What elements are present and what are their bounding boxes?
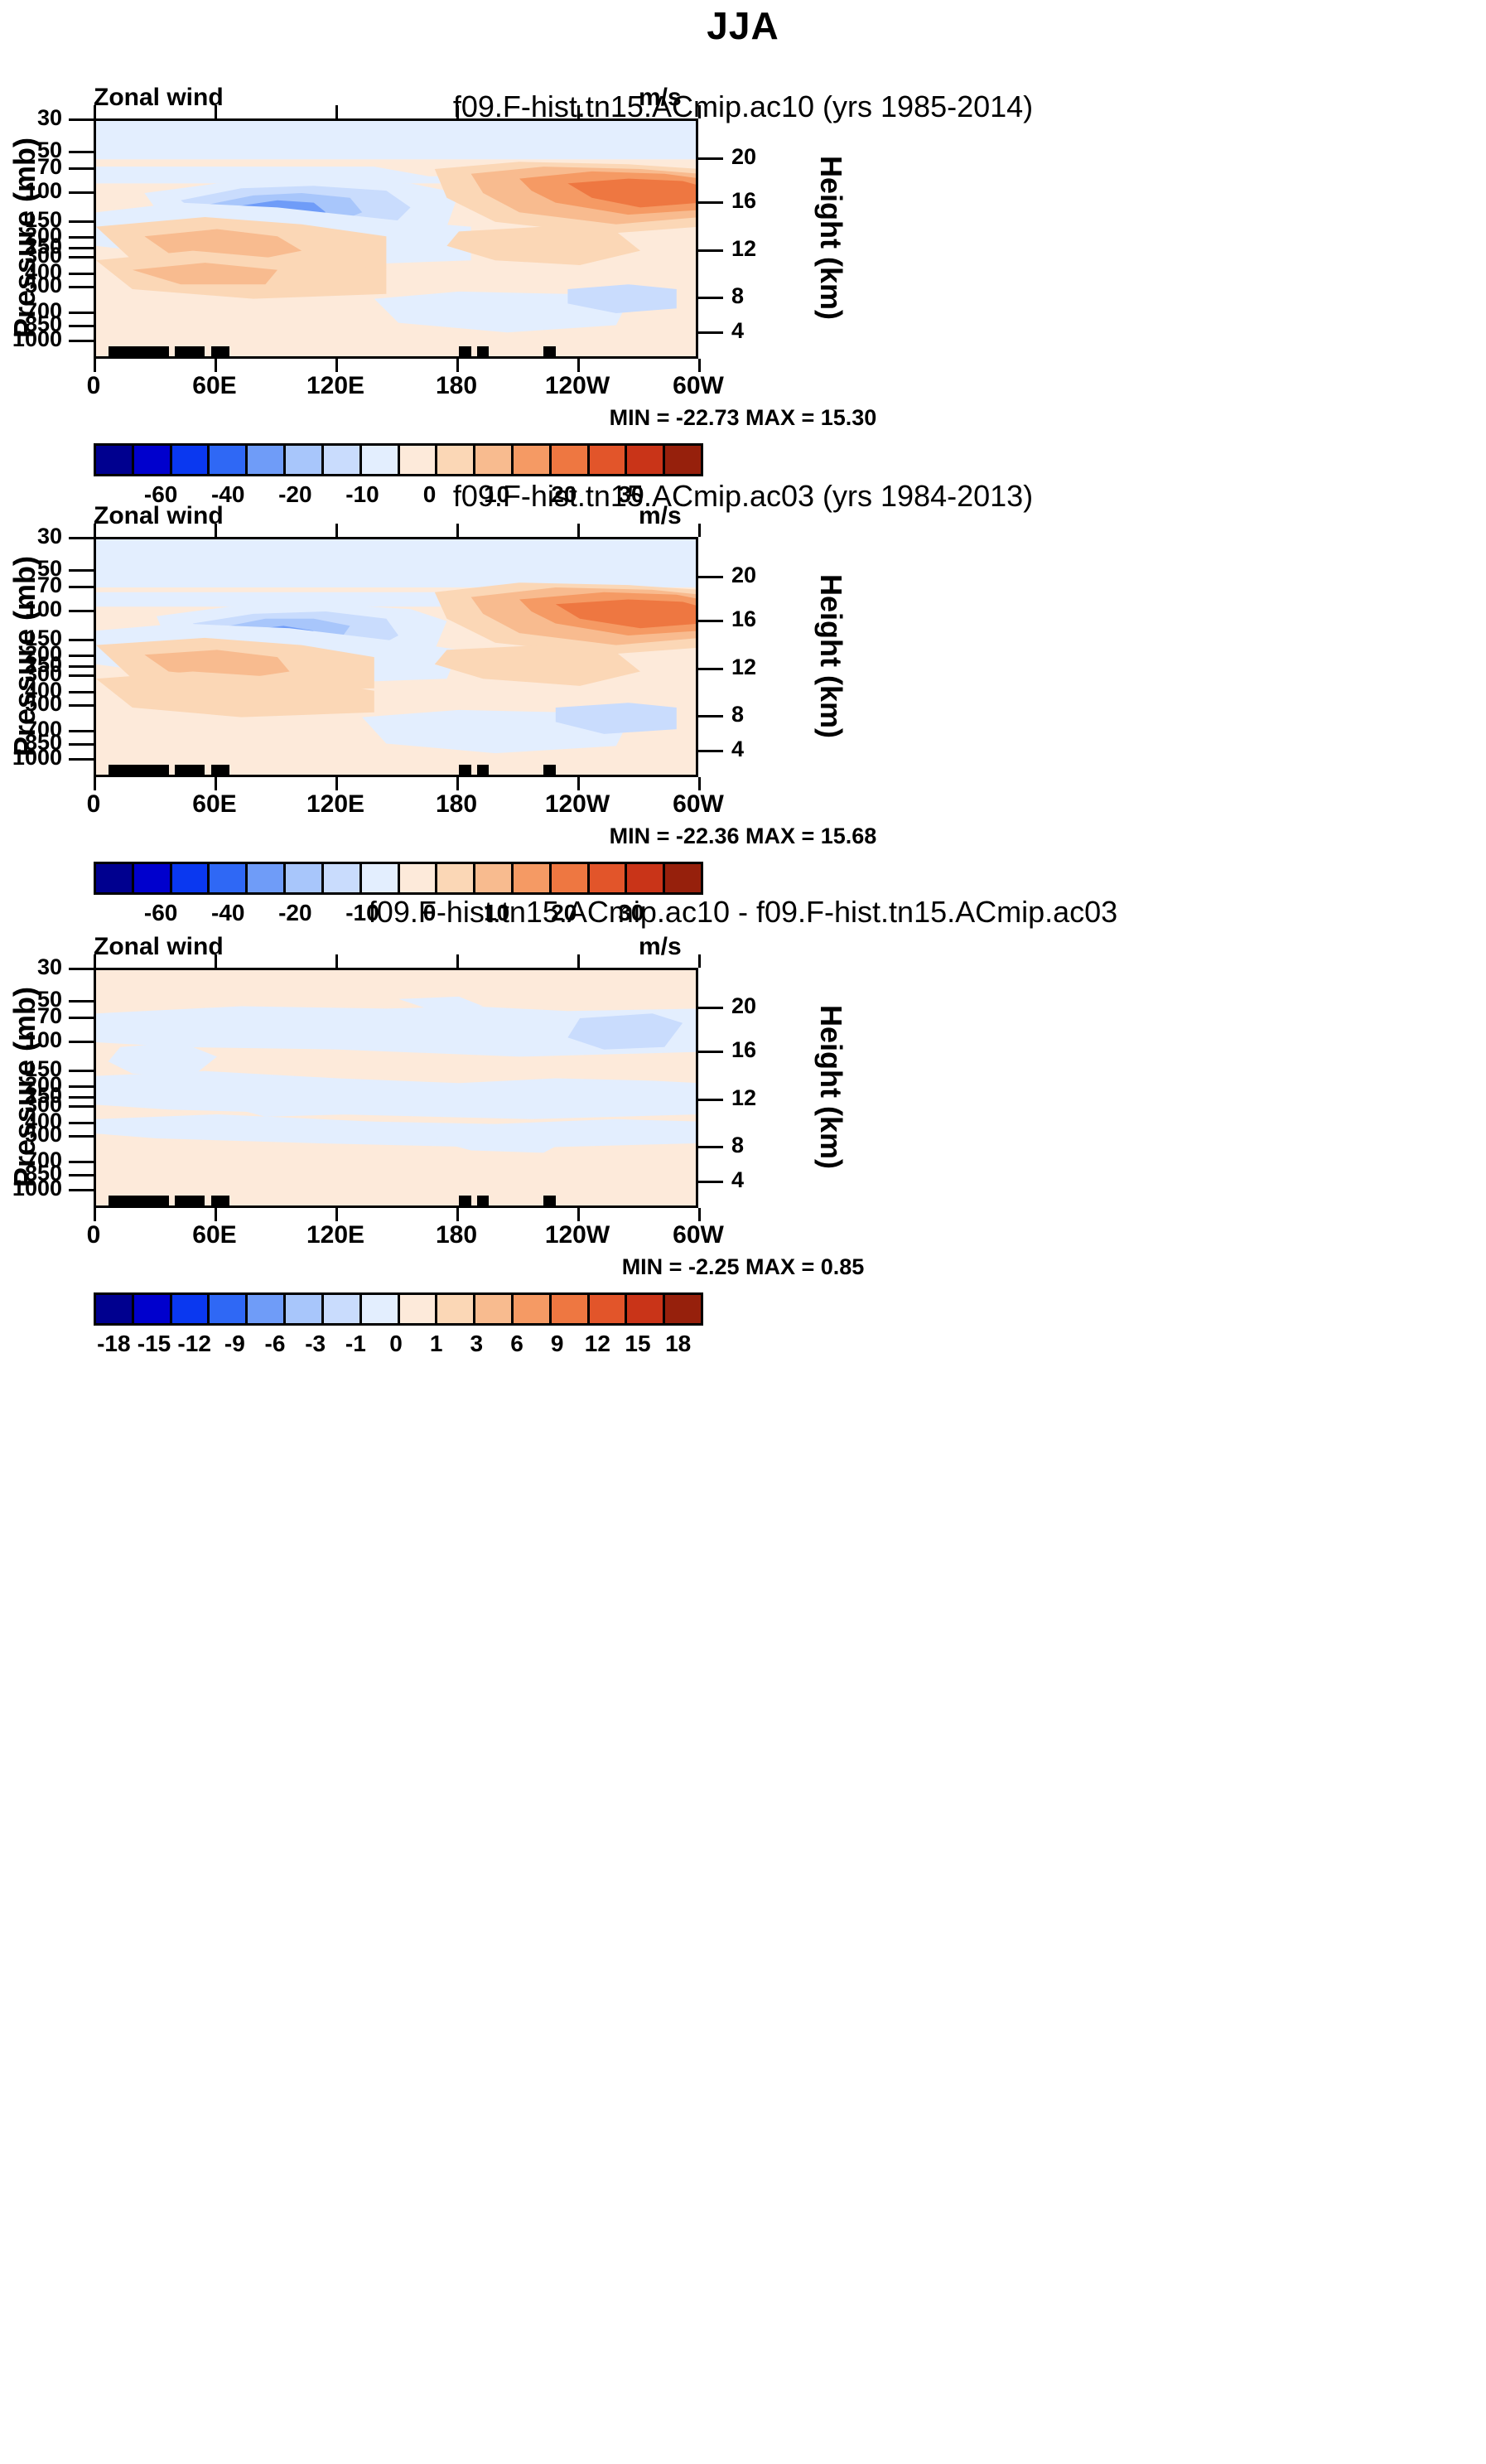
y-tick-mark <box>69 691 94 693</box>
x-tick-label: 60E <box>165 372 264 400</box>
y-axis-label-right: Height (km) <box>813 122 848 354</box>
y-tick-label: 30 <box>0 524 62 549</box>
y-tick-label-right: 8 <box>731 1133 744 1158</box>
terrain-mask <box>144 346 168 356</box>
y-tick-mark <box>69 730 94 732</box>
min-max-label: MIN = -22.36 MAX = 15.68 <box>0 824 1486 849</box>
y-tick-label-right: 20 <box>731 144 756 170</box>
x-tick-mark <box>577 777 580 790</box>
colorbar-swatch <box>437 864 475 892</box>
terrain-mask <box>175 765 205 775</box>
y-tick-mark-right <box>698 1099 723 1101</box>
y-tick-mark <box>69 273 94 275</box>
y-tick-mark <box>69 743 94 746</box>
y-tick-mark-right <box>698 249 723 252</box>
terrain-mask <box>543 346 556 356</box>
y-tick-mark-right <box>698 750 723 752</box>
y-tick-mark-right <box>698 201 723 204</box>
terrain-mask <box>109 1196 145 1205</box>
terrain-mask <box>543 765 556 775</box>
terrain-mask <box>175 1196 205 1205</box>
x-tick-label: 60E <box>165 1221 264 1249</box>
y-tick-mark <box>69 1000 94 1003</box>
y-tick-label: 500 <box>0 691 62 717</box>
terrain-mask <box>144 765 168 775</box>
y-tick-label-right: 20 <box>731 993 756 1019</box>
y-tick-mark <box>69 286 94 288</box>
x-tick-mark <box>215 359 217 372</box>
colorbar-swatch <box>437 1295 475 1323</box>
y-tick-mark <box>69 118 94 121</box>
x-tick-label: 120W <box>528 790 627 819</box>
colorbar-swatch <box>362 446 400 474</box>
x-tick-mark-top <box>698 954 701 968</box>
colorbar-swatch <box>400 864 438 892</box>
x-tick-mark <box>335 359 338 372</box>
y-tick-mark-right <box>698 1181 723 1183</box>
units-label: m/s <box>639 502 682 530</box>
colorbar-swatch <box>400 1295 438 1323</box>
y-tick-mark <box>69 191 94 194</box>
colorbar-swatch <box>665 1295 701 1323</box>
colorbar-swatch <box>552 1295 590 1323</box>
y-tick-mark <box>69 1122 94 1124</box>
y-tick-mark-right <box>698 576 723 578</box>
terrain-mask <box>459 1196 471 1205</box>
x-tick-mark-top <box>215 524 217 537</box>
y-tick-label: 500 <box>0 273 62 298</box>
y-tick-mark <box>69 167 94 170</box>
y-tick-label: 30 <box>0 954 62 980</box>
colorbar <box>94 862 703 895</box>
y-tick-mark <box>69 1085 94 1088</box>
y-tick-mark <box>69 758 94 761</box>
y-tick-mark <box>69 1096 94 1099</box>
min-max-label: MIN = -2.25 MAX = 0.85 <box>0 1254 1486 1280</box>
colorbar-swatch <box>514 446 552 474</box>
colorbar-swatch <box>286 1295 324 1323</box>
y-tick-label-right: 16 <box>731 188 756 214</box>
terrain-mask <box>459 346 471 356</box>
colorbar-swatch <box>286 446 324 474</box>
y-tick-label: 30 <box>0 105 62 131</box>
y-tick-mark <box>69 665 94 668</box>
x-tick-mark <box>215 1208 217 1221</box>
x-tick-mark <box>335 1208 338 1221</box>
y-tick-mark <box>69 1161 94 1163</box>
x-tick-mark <box>698 359 701 372</box>
x-tick-mark-top <box>698 524 701 537</box>
terrain-mask <box>543 1196 556 1205</box>
x-tick-mark-top <box>335 524 338 537</box>
y-tick-mark <box>69 537 94 539</box>
y-tick-mark <box>69 1041 94 1043</box>
terrain-mask <box>477 1196 490 1205</box>
colorbar-swatch <box>172 1295 210 1323</box>
y-tick-mark <box>69 569 94 572</box>
y-tick-label: 100 <box>0 178 62 204</box>
colorbar-swatch <box>627 446 665 474</box>
terrain-mask <box>109 346 145 356</box>
colorbar-swatch <box>96 1295 134 1323</box>
zonal-wind-label: Zonal wind <box>94 84 224 112</box>
x-tick-mark-top <box>698 105 701 118</box>
y-axis-label-right: Height (km) <box>813 971 848 1203</box>
colorbar-swatch <box>172 864 210 892</box>
y-tick-mark <box>69 312 94 314</box>
colorbar-swatch <box>134 446 172 474</box>
colorbar-swatch <box>134 1295 172 1323</box>
colorbar-swatch <box>627 864 665 892</box>
y-tick-mark-right <box>698 1146 723 1148</box>
x-tick-label: 180 <box>407 1221 506 1249</box>
colorbar-swatch <box>362 864 400 892</box>
y-tick-label: 70 <box>0 154 62 180</box>
terrain-mask <box>211 1196 229 1205</box>
colorbar-swatch <box>96 446 134 474</box>
page-title: JJA <box>0 3 1486 48</box>
colorbar-swatch <box>475 1295 514 1323</box>
zonal-wind-label: Zonal wind <box>94 502 224 530</box>
units-label: m/s <box>639 84 682 112</box>
colorbar-swatch <box>210 1295 248 1323</box>
y-tick-mark <box>69 655 94 657</box>
colorbar-swatch <box>475 864 514 892</box>
y-tick-label: 1000 <box>0 1176 62 1201</box>
x-tick-mark-top <box>335 954 338 968</box>
y-tick-mark <box>69 704 94 707</box>
x-tick-mark-top <box>456 524 459 537</box>
y-tick-label: 70 <box>0 1003 62 1029</box>
min-max-label: MIN = -22.73 MAX = 15.30 <box>0 405 1486 431</box>
colorbar-swatch <box>96 864 134 892</box>
x-tick-mark-top <box>94 524 96 537</box>
colorbar-swatch <box>172 446 210 474</box>
y-tick-mark <box>69 610 94 612</box>
panel-title: f09.F-hist.tn15.ACmip.ac10 - f09.F-hist.… <box>0 895 1486 930</box>
contour-plot-area <box>94 118 698 359</box>
x-tick-label: 0 <box>44 1221 143 1249</box>
y-tick-mark-right <box>698 297 723 299</box>
x-tick-mark <box>456 777 459 790</box>
colorbar-swatch <box>324 864 362 892</box>
zonal-wind-label: Zonal wind <box>94 933 224 961</box>
terrain-mask <box>109 765 145 775</box>
terrain-mask <box>211 346 229 356</box>
x-tick-mark <box>456 1208 459 1221</box>
x-tick-label: 120W <box>528 372 627 400</box>
y-tick-mark-right <box>698 715 723 717</box>
y-tick-mark-right <box>698 1051 723 1053</box>
x-tick-mark <box>698 777 701 790</box>
y-tick-label: 500 <box>0 1122 62 1147</box>
y-tick-mark <box>69 1105 94 1108</box>
terrain-mask <box>459 765 471 775</box>
terrain-mask <box>477 765 490 775</box>
y-tick-label-right: 4 <box>731 737 744 762</box>
y-tick-mark <box>69 325 94 327</box>
colorbar-swatch <box>627 1295 665 1323</box>
colorbar-swatch <box>590 446 628 474</box>
y-tick-mark <box>69 586 94 588</box>
colorbar-swatch <box>400 446 438 474</box>
x-tick-mark-top <box>215 954 217 968</box>
x-tick-mark <box>215 777 217 790</box>
x-tick-mark <box>698 1208 701 1221</box>
y-tick-mark-right <box>698 668 723 670</box>
y-tick-mark <box>69 340 94 342</box>
colorbar-swatch <box>475 446 514 474</box>
y-tick-mark <box>69 247 94 249</box>
x-tick-mark <box>577 1208 580 1221</box>
chart-panel: f09.F-hist.tn15.ACmip.ac10 - f09.F-hist.… <box>0 895 1486 1399</box>
y-tick-mark <box>69 1017 94 1019</box>
terrain-mask <box>477 346 490 356</box>
colorbar-swatch <box>324 1295 362 1323</box>
y-tick-label: 1000 <box>0 745 62 771</box>
colorbar-swatch <box>665 446 701 474</box>
y-tick-label-right: 12 <box>731 1085 756 1111</box>
colorbar-swatch <box>437 446 475 474</box>
x-tick-mark-top <box>335 105 338 118</box>
colorbar-swatch <box>248 446 286 474</box>
contour-plot-area <box>94 968 698 1208</box>
colorbar-swatch <box>590 1295 628 1323</box>
y-tick-label: 100 <box>0 1027 62 1053</box>
y-tick-mark <box>69 639 94 641</box>
x-tick-mark-top <box>215 105 217 118</box>
x-tick-mark-top <box>94 105 96 118</box>
x-tick-label: 60W <box>649 790 748 819</box>
y-tick-mark <box>69 1174 94 1176</box>
units-label: m/s <box>639 933 682 961</box>
y-tick-label-right: 12 <box>731 236 756 262</box>
colorbar-swatch <box>665 864 701 892</box>
y-tick-mark <box>69 220 94 223</box>
y-tick-label-right: 16 <box>731 606 756 632</box>
y-tick-mark <box>69 1189 94 1191</box>
colorbar-swatch <box>324 446 362 474</box>
x-tick-label: 60W <box>649 372 748 400</box>
colorbar <box>94 443 703 476</box>
x-tick-mark <box>94 777 96 790</box>
x-tick-label: 120E <box>286 372 385 400</box>
x-tick-mark-top <box>577 954 580 968</box>
x-tick-mark-top <box>456 105 459 118</box>
colorbar <box>94 1292 703 1326</box>
x-tick-label: 180 <box>407 790 506 819</box>
y-tick-label-right: 20 <box>731 563 756 588</box>
y-tick-mark-right <box>698 157 723 160</box>
y-tick-label-right: 16 <box>731 1037 756 1063</box>
colorbar-swatch <box>552 446 590 474</box>
y-tick-label-right: 12 <box>731 655 756 680</box>
x-tick-mark <box>335 777 338 790</box>
y-tick-mark <box>69 968 94 970</box>
y-tick-mark-right <box>698 1007 723 1009</box>
colorbar-swatch <box>210 864 248 892</box>
contour-plot-area <box>94 537 698 777</box>
x-tick-label: 180 <box>407 372 506 400</box>
y-tick-label: 70 <box>0 573 62 598</box>
x-tick-mark <box>456 359 459 372</box>
y-tick-label-right: 4 <box>731 1167 744 1193</box>
y-tick-label: 1000 <box>0 326 62 352</box>
y-tick-label-right: 8 <box>731 702 744 727</box>
colorbar-swatch <box>286 864 324 892</box>
y-tick-mark <box>69 674 94 677</box>
x-tick-label: 120E <box>286 790 385 819</box>
y-axis-label-right: Height (km) <box>813 540 848 772</box>
x-tick-mark <box>94 1208 96 1221</box>
colorbar-swatch <box>590 864 628 892</box>
colorbar-swatch <box>248 1295 286 1323</box>
y-tick-label-right: 8 <box>731 283 744 309</box>
x-tick-mark-top <box>456 954 459 968</box>
colorbar-swatch <box>210 446 248 474</box>
y-tick-mark-right <box>698 331 723 334</box>
terrain-mask <box>211 765 229 775</box>
y-tick-mark-right <box>698 620 723 622</box>
x-tick-label: 0 <box>44 372 143 400</box>
x-tick-label: 0 <box>44 790 143 819</box>
x-tick-mark-top <box>94 954 96 968</box>
x-tick-mark <box>577 359 580 372</box>
x-tick-mark-top <box>577 524 580 537</box>
y-tick-mark <box>69 256 94 258</box>
x-tick-mark <box>94 359 96 372</box>
y-tick-mark <box>69 1070 94 1072</box>
colorbar-swatch <box>248 864 286 892</box>
terrain-mask <box>144 1196 168 1205</box>
terrain-mask <box>175 346 205 356</box>
y-tick-mark <box>69 151 94 153</box>
x-tick-label: 60W <box>649 1221 748 1249</box>
colorbar-swatch <box>514 864 552 892</box>
y-tick-label: 100 <box>0 597 62 622</box>
x-tick-label: 120E <box>286 1221 385 1249</box>
y-tick-mark <box>69 1135 94 1138</box>
y-tick-mark <box>69 236 94 239</box>
x-tick-mark-top <box>577 105 580 118</box>
colorbar-swatch <box>362 1295 400 1323</box>
colorbar-swatch <box>514 1295 552 1323</box>
y-tick-label-right: 4 <box>731 318 744 344</box>
x-tick-label: 60E <box>165 790 264 819</box>
colorbar-swatch <box>552 864 590 892</box>
colorbar-tick-label: 18 <box>637 1331 720 1357</box>
colorbar-swatch <box>134 864 172 892</box>
x-tick-label: 120W <box>528 1221 627 1249</box>
